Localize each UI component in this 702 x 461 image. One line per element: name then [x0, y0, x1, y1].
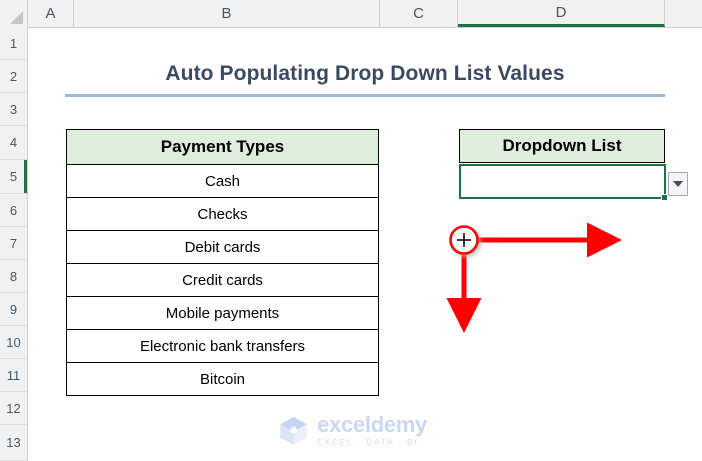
row-header-6-label: 6 — [10, 203, 17, 218]
payment-type-cell[interactable]: Credit cards — [67, 264, 379, 297]
row-header-12[interactable]: 12 — [0, 392, 27, 425]
row-header-3[interactable]: 3 — [0, 93, 27, 126]
dropdown-list-header: Dropdown List — [459, 129, 665, 163]
payment-type-cell[interactable]: Electronic bank transfers — [67, 330, 379, 363]
table-row[interactable]: Checks — [67, 198, 379, 231]
table-row[interactable]: Electronic bank transfers — [67, 330, 379, 363]
row-header-8[interactable]: 8 — [0, 260, 27, 293]
cube-logo-icon — [277, 411, 310, 449]
row-header-8-label: 8 — [10, 269, 17, 284]
payment-type-cell[interactable]: Mobile payments — [67, 297, 379, 330]
select-all-triangle-icon — [10, 11, 23, 24]
fill-handle[interactable] — [661, 194, 668, 201]
table-row[interactable]: Debit cards — [67, 231, 379, 264]
row-header-strip: 1 2 3 4 5 6 7 8 9 10 11 12 13 — [0, 27, 28, 461]
payment-types-header: Payment Types — [67, 130, 379, 165]
column-header-a[interactable]: A — [28, 0, 74, 27]
row-header-5-label: 5 — [10, 169, 17, 184]
payment-type-cell[interactable]: Checks — [67, 198, 379, 231]
watermark-text: exceldemy EXCEL · DATA · BI — [317, 414, 427, 447]
column-header-e[interactable] — [665, 0, 702, 27]
column-header-b[interactable]: B — [74, 0, 380, 27]
row-header-10[interactable]: 10 — [0, 326, 27, 359]
row-header-12-label: 12 — [6, 401, 20, 416]
row-header-13[interactable]: 13 — [0, 425, 27, 461]
row-header-10-label: 10 — [6, 335, 20, 350]
row-header-9-label: 9 — [10, 302, 17, 317]
payment-types-table: Payment Types Cash Checks Debit cards Cr… — [66, 129, 379, 396]
watermark-tagline: EXCEL · DATA · BI — [317, 439, 427, 447]
row-header-5[interactable]: 5 — [0, 160, 27, 194]
table-header-row: Payment Types — [67, 130, 379, 165]
dropdown-arrow-button[interactable] — [668, 172, 688, 196]
row-header-4-label: 4 — [10, 135, 17, 150]
column-header-a-label: A — [45, 5, 55, 22]
table-row[interactable]: Bitcoin — [67, 363, 379, 396]
chevron-down-icon — [673, 181, 683, 187]
column-header-b-label: B — [221, 5, 231, 22]
payment-type-cell[interactable]: Bitcoin — [67, 363, 379, 396]
dropdown-input-cell[interactable] — [459, 164, 666, 199]
page-title: Auto Populating Drop Down List Values — [65, 62, 665, 86]
payment-type-cell[interactable]: Cash — [67, 165, 379, 198]
row-header-2-label: 2 — [10, 69, 17, 84]
row-header-11[interactable]: 11 — [0, 359, 27, 392]
column-header-c-label: C — [413, 5, 424, 22]
column-header-c[interactable]: C — [380, 0, 458, 27]
row-header-3-label: 3 — [10, 102, 17, 117]
table-row[interactable]: Credit cards — [67, 264, 379, 297]
select-all-button[interactable] — [0, 0, 28, 27]
row-header-4[interactable]: 4 — [0, 126, 27, 160]
payment-type-cell[interactable]: Debit cards — [67, 231, 379, 264]
column-header-d[interactable]: D — [458, 0, 665, 27]
row-header-7[interactable]: 7 — [0, 227, 27, 260]
row-header-11-label: 11 — [7, 368, 21, 383]
column-header-strip: A B C D — [0, 0, 702, 28]
title-underline — [65, 94, 665, 97]
column-header-d-label: D — [556, 4, 567, 21]
row-header-9[interactable]: 9 — [0, 293, 27, 326]
row-header-1-label: 1 — [10, 36, 17, 51]
worksheet: A B C D 1 2 3 4 5 6 7 8 9 10 11 12 13 Au… — [0, 0, 702, 461]
watermark-name: exceldemy — [317, 414, 427, 436]
table-row[interactable]: Cash — [67, 165, 379, 198]
watermark: exceldemy EXCEL · DATA · BI — [277, 410, 427, 450]
row-header-13-label: 13 — [6, 435, 20, 450]
row-header-2[interactable]: 2 — [0, 60, 27, 93]
table-row[interactable]: Mobile payments — [67, 297, 379, 330]
row-header-1[interactable]: 1 — [0, 27, 27, 60]
row-header-6[interactable]: 6 — [0, 194, 27, 227]
row-header-7-label: 7 — [10, 236, 17, 251]
